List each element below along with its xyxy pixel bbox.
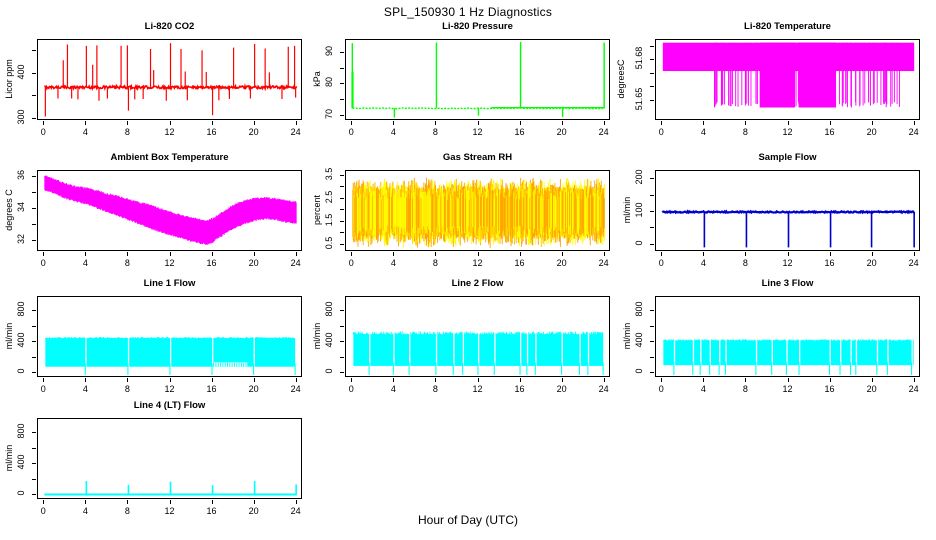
panel-line-3-flow: Line 3 Flow048121620240400800ml/min	[618, 278, 923, 404]
x-tick	[745, 252, 746, 256]
y-tick	[650, 341, 654, 342]
data-series	[38, 297, 302, 377]
x-tick-label: 20	[557, 258, 567, 268]
y-tick	[340, 186, 344, 187]
x-tick	[296, 378, 297, 382]
y-tick-label: 800	[16, 419, 26, 443]
x-tick-label: 16	[207, 506, 217, 516]
x-tick	[393, 252, 394, 256]
x-tick-label: 4	[391, 258, 396, 268]
y-tick-label: 51.65	[634, 87, 644, 111]
x-tick	[170, 121, 171, 125]
y-tick	[32, 224, 36, 225]
x-tick-label: 8	[433, 384, 438, 394]
data-series	[346, 297, 610, 377]
x-tick-label: 4	[391, 384, 396, 394]
x-tick-label: 16	[515, 258, 525, 268]
x-tick	[788, 252, 789, 256]
x-tick	[562, 378, 563, 382]
plot-area	[345, 296, 610, 377]
x-tick	[788, 121, 789, 125]
x-tick	[170, 252, 171, 256]
y-tick	[650, 372, 654, 373]
x-tick-label: 8	[743, 384, 748, 394]
y-tick	[32, 357, 36, 358]
plot-area	[37, 296, 302, 377]
x-tick-label: 20	[249, 506, 259, 516]
x-tick-label: 4	[83, 258, 88, 268]
y-tick-label: 80	[324, 70, 334, 94]
y-tick	[650, 73, 654, 74]
x-tick	[661, 252, 662, 256]
panel-li-820-pressure: Li-820 Pressure04812162024708090kPa	[308, 21, 613, 147]
x-tick	[520, 252, 521, 256]
x-tick	[296, 252, 297, 256]
x-tick-label: 12	[782, 258, 792, 268]
x-tick	[562, 252, 563, 256]
x-tick	[43, 500, 44, 504]
y-axis-title: percent	[312, 165, 322, 255]
panel-gas-stream-rh: Gas Stream RH048121620240.51.52.53.5perc…	[308, 152, 613, 278]
x-tick	[127, 121, 128, 125]
x-tick	[127, 252, 128, 256]
y-tick	[340, 99, 344, 100]
x-tick-label: 12	[164, 506, 174, 516]
x-tick-label: 24	[599, 258, 609, 268]
panel-line-2-flow: Line 2 Flow048121620240400800ml/min	[308, 278, 613, 404]
y-tick	[340, 310, 344, 311]
y-tick	[650, 59, 654, 60]
y-tick-label: 0	[634, 231, 644, 255]
x-tick	[127, 378, 128, 382]
y-tick	[32, 372, 36, 373]
x-tick	[745, 378, 746, 382]
y-tick-label: 800	[324, 297, 334, 321]
y-tick-label: 36	[16, 163, 26, 187]
x-tick-label: 20	[249, 384, 259, 394]
x-tick-label: 4	[83, 384, 88, 394]
x-tick	[85, 378, 86, 382]
y-tick	[32, 118, 36, 119]
x-tick	[788, 378, 789, 382]
x-tick-label: 24	[909, 384, 919, 394]
y-tick	[32, 50, 36, 51]
y-tick	[32, 73, 36, 74]
x-tick	[170, 378, 171, 382]
x-tick	[435, 378, 436, 382]
x-tick	[393, 378, 394, 382]
x-tick	[43, 121, 44, 125]
x-tick	[212, 500, 213, 504]
panel-title: Ambient Box Temperature	[37, 152, 302, 163]
y-tick	[340, 68, 344, 69]
y-tick	[650, 100, 654, 101]
y-axis-title: ml/min	[622, 291, 632, 381]
panel-title: Li-820 CO2	[37, 21, 302, 32]
x-tick-label: 0	[349, 384, 354, 394]
panel-title: Line 4 (LT) Flow	[37, 400, 302, 411]
x-tick-label: 8	[743, 127, 748, 137]
y-tick-label: 800	[16, 297, 26, 321]
x-tick	[703, 252, 704, 256]
y-tick	[340, 232, 344, 233]
x-tick	[478, 121, 479, 125]
y-tick	[340, 209, 344, 210]
plot-area	[655, 170, 920, 251]
diagnostics-figure: SPL_150930 1 Hz Diagnostics Hour of Day …	[0, 0, 936, 540]
panel-title: Sample Flow	[655, 152, 920, 163]
y-tick-label: 300	[16, 105, 26, 129]
panel-title: Li-820 Temperature	[655, 21, 920, 32]
x-tick-label: 12	[164, 127, 174, 137]
y-tick	[340, 198, 344, 199]
x-tick	[254, 500, 255, 504]
y-tick	[32, 479, 36, 480]
x-tick	[604, 121, 605, 125]
panel-title: Li-820 Pressure	[345, 21, 610, 32]
x-tick	[85, 252, 86, 256]
x-tick	[351, 121, 352, 125]
y-axis-title: ml/min	[4, 291, 14, 381]
y-tick-label: 34	[16, 195, 26, 219]
x-tick	[914, 378, 915, 382]
y-tick	[340, 52, 344, 53]
x-tick	[830, 252, 831, 256]
y-tick	[650, 310, 654, 311]
x-tick-label: 4	[391, 127, 396, 137]
plot-area	[37, 418, 302, 499]
y-tick	[650, 326, 654, 327]
plot-area	[345, 39, 610, 120]
x-tick-label: 16	[515, 384, 525, 394]
x-tick-label: 8	[433, 127, 438, 137]
x-tick	[745, 121, 746, 125]
x-tick	[254, 378, 255, 382]
y-axis-title: kPa	[312, 34, 322, 124]
figure-title: SPL_150930 1 Hz Diagnostics	[0, 5, 936, 19]
x-tick	[85, 121, 86, 125]
x-tick-label: 0	[659, 127, 664, 137]
y-tick	[650, 46, 654, 47]
x-tick	[872, 252, 873, 256]
y-tick	[340, 175, 344, 176]
x-tick	[127, 500, 128, 504]
y-tick-label: 51.68	[634, 46, 644, 70]
x-tick	[872, 121, 873, 125]
y-axis-title: Licor ppm	[4, 34, 14, 124]
y-tick-label: 200	[634, 165, 644, 189]
x-tick-label: 16	[207, 127, 217, 137]
data-series	[656, 40, 920, 120]
y-tick	[32, 463, 36, 464]
x-tick-label: 8	[433, 258, 438, 268]
plot-area	[345, 170, 610, 251]
panel-title: Line 2 Flow	[345, 278, 610, 289]
x-tick	[212, 378, 213, 382]
x-tick	[393, 121, 394, 125]
y-tick-label: 800	[634, 297, 644, 321]
x-tick-label: 12	[472, 384, 482, 394]
x-tick-label: 0	[659, 258, 664, 268]
x-tick-label: 0	[41, 258, 46, 268]
x-tick	[351, 252, 352, 256]
y-tick	[340, 326, 344, 327]
plot-area	[37, 170, 302, 251]
x-tick	[872, 378, 873, 382]
y-tick	[650, 357, 654, 358]
x-tick-label: 12	[782, 384, 792, 394]
x-tick	[170, 500, 171, 504]
y-tick	[340, 115, 344, 116]
x-tick-label: 8	[125, 258, 130, 268]
x-tick	[296, 121, 297, 125]
y-tick-label: 400	[16, 328, 26, 352]
y-tick	[340, 341, 344, 342]
x-tick-label: 24	[909, 258, 919, 268]
x-tick	[85, 500, 86, 504]
panel-li-820-temperature: Li-820 Temperature0481216202451.6551.68d…	[618, 21, 923, 147]
x-tick	[914, 252, 915, 256]
x-tick-label: 12	[164, 258, 174, 268]
x-tick-label: 24	[909, 127, 919, 137]
x-tick-label: 20	[249, 258, 259, 268]
plot-area	[37, 39, 302, 120]
x-tick	[254, 252, 255, 256]
x-tick-label: 0	[349, 258, 354, 268]
x-tick	[43, 378, 44, 382]
panel-title: Line 1 Flow	[37, 278, 302, 289]
y-tick-label: 0	[16, 359, 26, 383]
y-tick-label: 32	[16, 227, 26, 251]
data-series	[38, 419, 302, 499]
x-tick	[296, 500, 297, 504]
data-series	[346, 40, 610, 120]
x-tick-label: 24	[291, 384, 301, 394]
panel-line-4-lt-flow: Line 4 (LT) Flow048121620240400800ml/min	[0, 400, 305, 526]
y-tick	[340, 372, 344, 373]
y-tick-label: 0.5	[324, 231, 334, 255]
x-tick-label: 8	[743, 258, 748, 268]
panel-li-820-co2: Li-820 CO204812162024300400Licor ppm	[0, 21, 305, 147]
y-tick	[32, 240, 36, 241]
y-tick	[32, 494, 36, 495]
data-series	[38, 40, 302, 120]
y-tick	[32, 192, 36, 193]
x-tick	[435, 252, 436, 256]
x-tick-label: 16	[207, 258, 217, 268]
x-tick-label: 0	[41, 127, 46, 137]
x-tick-label: 20	[867, 127, 877, 137]
x-tick-label: 8	[125, 506, 130, 516]
x-tick-label: 24	[599, 127, 609, 137]
x-tick-label: 20	[867, 258, 877, 268]
data-series	[346, 171, 610, 251]
x-tick-label: 12	[782, 127, 792, 137]
y-tick	[340, 244, 344, 245]
x-tick	[212, 252, 213, 256]
x-tick-label: 8	[125, 127, 130, 137]
x-tick-label: 12	[164, 384, 174, 394]
y-tick-label: 0	[16, 481, 26, 505]
y-tick-label: 90	[324, 39, 334, 63]
y-tick-label: 2.5	[324, 185, 334, 209]
y-axis-title: ml/min	[4, 413, 14, 503]
y-tick	[650, 178, 654, 179]
x-tick	[703, 378, 704, 382]
y-tick	[340, 221, 344, 222]
x-tick	[562, 121, 563, 125]
y-tick	[32, 310, 36, 311]
x-tick-label: 16	[207, 384, 217, 394]
x-tick-label: 4	[701, 258, 706, 268]
x-tick-label: 20	[557, 384, 567, 394]
x-tick-label: 4	[701, 384, 706, 394]
x-tick-label: 12	[472, 258, 482, 268]
y-tick	[650, 211, 654, 212]
y-tick-label: 0	[324, 359, 334, 383]
panel-ambient-box-temperature: Ambient Box Temperature04812162024323436…	[0, 152, 305, 278]
y-tick	[32, 176, 36, 177]
plot-area	[655, 39, 920, 120]
x-tick	[351, 378, 352, 382]
y-tick	[340, 83, 344, 84]
data-series	[656, 297, 920, 377]
x-tick-label: 20	[557, 127, 567, 137]
y-tick-label: 3.5	[324, 162, 334, 186]
y-axis-title: ml/min	[312, 291, 322, 381]
x-tick-label: 20	[249, 127, 259, 137]
y-tick	[650, 227, 654, 228]
x-tick	[478, 378, 479, 382]
panel-sample-flow: Sample Flow048121620240100200ml/min	[618, 152, 923, 278]
x-tick-label: 4	[83, 506, 88, 516]
y-tick-label: 400	[324, 328, 334, 352]
x-tick	[254, 121, 255, 125]
x-tick	[435, 121, 436, 125]
data-series	[38, 171, 302, 251]
x-tick-label: 20	[867, 384, 877, 394]
plot-area	[655, 296, 920, 377]
y-tick-label: 400	[634, 328, 644, 352]
x-tick-label: 24	[291, 506, 301, 516]
x-tick	[830, 121, 831, 125]
y-tick	[32, 326, 36, 327]
y-axis-title: degrees C	[4, 165, 14, 255]
y-tick	[32, 208, 36, 209]
x-tick	[661, 121, 662, 125]
y-tick-label: 1.5	[324, 208, 334, 232]
y-axis-title: degreesC	[616, 34, 626, 124]
y-axis-title: ml/min	[622, 165, 632, 255]
x-tick	[520, 121, 521, 125]
x-tick-label: 24	[599, 384, 609, 394]
y-tick-label: 70	[324, 102, 334, 126]
x-tick-label: 16	[825, 127, 835, 137]
y-tick	[32, 341, 36, 342]
x-tick-label: 24	[291, 127, 301, 137]
x-tick-label: 4	[701, 127, 706, 137]
y-tick-label: 100	[634, 198, 644, 222]
x-tick	[520, 378, 521, 382]
y-tick	[32, 448, 36, 449]
x-tick-label: 16	[825, 384, 835, 394]
x-tick-label: 0	[349, 127, 354, 137]
x-tick	[604, 378, 605, 382]
y-tick	[650, 86, 654, 87]
x-tick-label: 24	[291, 258, 301, 268]
x-tick	[604, 252, 605, 256]
x-tick	[703, 121, 704, 125]
x-tick-label: 16	[515, 127, 525, 137]
x-tick	[43, 252, 44, 256]
y-tick-label: 0	[634, 359, 644, 383]
y-tick	[650, 244, 654, 245]
x-tick-label: 0	[659, 384, 664, 394]
x-tick	[830, 378, 831, 382]
x-tick-label: 12	[472, 127, 482, 137]
data-series	[656, 171, 920, 251]
x-tick-label: 16	[825, 258, 835, 268]
x-tick	[661, 378, 662, 382]
x-tick-label: 0	[41, 384, 46, 394]
x-tick-label: 0	[41, 506, 46, 516]
y-tick	[650, 195, 654, 196]
x-tick-label: 4	[83, 127, 88, 137]
y-tick	[32, 432, 36, 433]
x-tick-label: 8	[125, 384, 130, 394]
y-tick	[32, 95, 36, 96]
y-tick	[340, 357, 344, 358]
panel-title: Gas Stream RH	[345, 152, 610, 163]
y-tick-label: 400	[16, 450, 26, 474]
x-tick	[914, 121, 915, 125]
panel-title: Line 3 Flow	[655, 278, 920, 289]
x-tick	[212, 121, 213, 125]
y-tick-label: 400	[16, 60, 26, 84]
panel-line-1-flow: Line 1 Flow048121620240400800ml/min	[0, 278, 305, 404]
x-tick	[478, 252, 479, 256]
